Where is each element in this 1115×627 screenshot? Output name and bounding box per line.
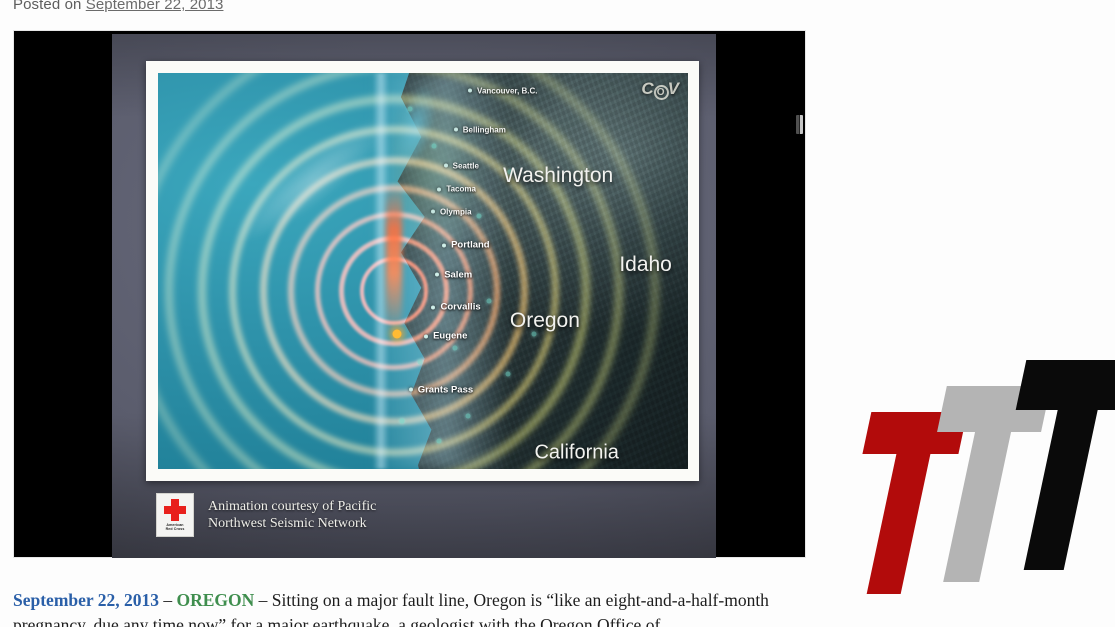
posted-on-date-link[interactable]: September 22, 2013 (86, 0, 224, 13)
seismic-ring-9 (158, 73, 659, 469)
presentation-slide: Vancouver, B.C.BellinghamSeattleTacomaOl… (112, 34, 716, 558)
seismic-station-8 (436, 439, 441, 444)
state-label-washington: Washington (503, 164, 613, 188)
video-scroll-handle[interactable] (796, 115, 803, 134)
rupture-zone (386, 184, 402, 334)
seismic-station-2 (452, 346, 457, 351)
city-label-bellingham: Bellingham (463, 125, 506, 134)
city-label-vancouver-b-c: Vancouver, B.C. (477, 86, 537, 95)
seismic-station-12 (407, 106, 412, 111)
seismic-station-5 (466, 413, 471, 418)
city-label-portland: Portland (451, 240, 490, 251)
red-cross-label: American Red Cross (166, 523, 185, 532)
ttt-logo[interactable] (852, 360, 1090, 552)
cov-watermark: COV (641, 79, 680, 100)
seismic-station-9 (476, 213, 481, 218)
article-separator-2: – (254, 590, 272, 610)
state-label-idaho: Idaho (619, 253, 672, 277)
posted-on-label: Posted on (13, 0, 81, 13)
credit-line-1: Animation courtesy of Pacific (208, 498, 376, 515)
state-label-california: California (534, 442, 618, 465)
city-label-salem: Salem (444, 269, 472, 280)
seismic-station-1 (418, 360, 423, 365)
credit-line-2: Northwest Seismic Network (208, 515, 376, 532)
red-cross-icon (164, 499, 186, 521)
city-label-eugene: Eugene (433, 331, 467, 342)
epicenter-marker (392, 330, 401, 339)
ttt-letter-3-stem (1024, 410, 1098, 570)
seismic-wave-rings (158, 73, 688, 469)
watermark-ring-glyph: O (654, 85, 669, 100)
map-frame: Vancouver, B.C.BellinghamSeattleTacomaOl… (146, 61, 699, 481)
page-root: Posted on September 22, 2013 (0, 0, 1115, 627)
seismic-station-7 (399, 419, 404, 424)
credit-text: Animation courtesy of Pacific Northwest … (208, 498, 376, 532)
city-label-olympia: Olympia (440, 207, 472, 216)
article-lead-location: OREGON (176, 590, 254, 610)
post-meta: Posted on September 22, 2013 (13, 0, 223, 13)
seismic-station-6 (532, 332, 537, 337)
seismic-station-4 (505, 371, 510, 376)
city-label-seattle: Seattle (453, 161, 479, 170)
article-lead-date: September 22, 2013 (13, 590, 159, 610)
city-label-grants-pass: Grants Pass (418, 384, 473, 395)
article-separator-1: – (159, 590, 177, 610)
city-label-tacoma: Tacoma (446, 185, 476, 194)
city-label-corvallis: Corvallis (440, 302, 480, 313)
seismic-station-11 (431, 144, 436, 149)
embedded-video-player[interactable]: Vancouver, B.C.BellinghamSeattleTacomaOl… (14, 31, 805, 557)
seismic-station-3 (487, 298, 492, 303)
ttt-letter-3-crossbar (1016, 360, 1115, 410)
american-red-cross-logo: American Red Cross (156, 493, 194, 537)
state-label-oregon: Oregon (510, 309, 580, 333)
article-body: September 22, 2013 – OREGON – Sitting on… (13, 588, 843, 627)
animation-credit: American Red Cross Animation courtesy of… (156, 493, 376, 537)
seismic-map: Vancouver, B.C.BellinghamSeattleTacomaOl… (158, 73, 688, 469)
